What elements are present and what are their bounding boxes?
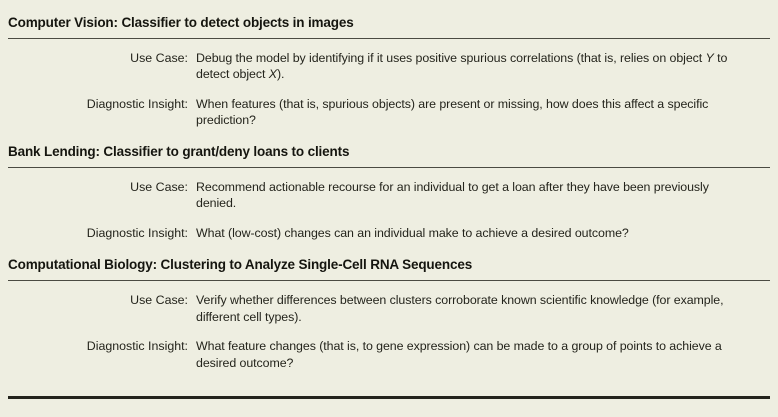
section-bank-lending: Bank Lending: Classifier to grant/deny l… [8,129,770,241]
section-rows: Use Case: Debug the model by identifying… [8,39,770,129]
row-text-diagnostic-insight: What (low-cost) changes can an individua… [196,225,734,242]
row-text-diagnostic-insight: When features (that is, spurious objects… [196,96,734,129]
use-case-emphasis-y: Y [706,51,714,65]
row-text-diagnostic-insight: What feature changes (that is, to gene e… [196,338,734,371]
row-text-use-case: Recommend actionable recourse for an ind… [196,179,734,212]
table-row: Diagnostic Insight: What feature changes… [8,325,770,371]
row-text-use-case: Debug the model by identifying if it use… [196,50,734,83]
section-computational-biology: Computational Biology: Clustering to Ana… [8,241,770,371]
use-case-table: Computer Vision: Classifier to detect ob… [0,0,778,417]
section-computer-vision: Computer Vision: Classifier to detect ob… [8,0,770,129]
row-label-diagnostic-insight: Diagnostic Insight: [8,338,196,355]
section-heading-computational-biology: Computational Biology: Clustering to Ana… [8,258,770,280]
section-heading-bank-lending: Bank Lending: Classifier to grant/deny l… [8,129,770,167]
row-label-diagnostic-insight: Diagnostic Insight: [8,225,196,242]
use-case-emphasis-x: X [269,67,277,81]
section-rows: Use Case: Recommend actionable recourse … [8,168,770,242]
table-row: Use Case: Verify whether differences bet… [8,281,770,325]
table-row: Use Case: Recommend actionable recourse … [8,168,770,212]
row-text-use-case: Verify whether differences between clust… [196,292,734,325]
row-label-use-case: Use Case: [8,292,196,309]
row-label-diagnostic-insight: Diagnostic Insight: [8,96,196,113]
section-rows: Use Case: Verify whether differences bet… [8,281,770,371]
use-case-text-part: Debug the model by identifying if it use… [196,51,706,65]
table-bottom-border [8,396,770,399]
table-row: Diagnostic Insight: What (low-cost) chan… [8,212,770,242]
table-row: Diagnostic Insight: When features (that … [8,83,770,129]
row-label-use-case: Use Case: [8,179,196,196]
use-case-text-part: ). [277,67,284,81]
table-row: Use Case: Debug the model by identifying… [8,39,770,83]
section-heading-computer-vision: Computer Vision: Classifier to detect ob… [8,0,770,38]
row-label-use-case: Use Case: [8,50,196,67]
